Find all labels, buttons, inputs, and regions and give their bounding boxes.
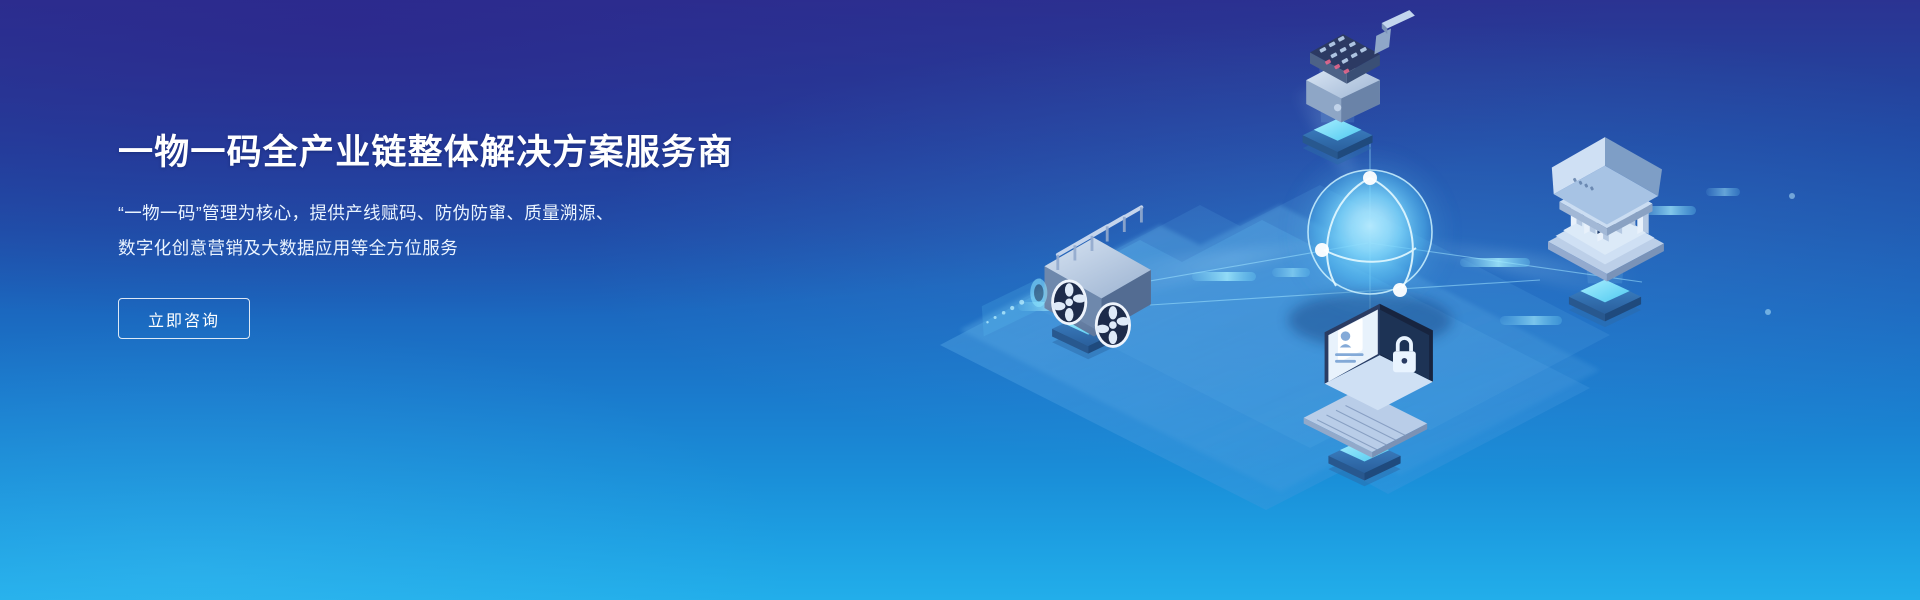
hero-copy: 一物一码全产业链整体解决方案服务商 “一物一码”管理为核心，提供产线赋码、防伪防…: [118, 132, 818, 339]
pos-display: [1325, 59, 1350, 74]
fan-icon-2: [1095, 302, 1131, 348]
data-flow-lines: [1098, 140, 1642, 352]
server-rack-node: [982, 207, 1151, 359]
bank-columns: [1571, 194, 1649, 242]
laptop-security-node: [1304, 304, 1433, 486]
node-pad: [1303, 119, 1373, 165]
pos-terminal-node: [1303, 10, 1415, 165]
network-sphere-node: [1284, 146, 1456, 348]
hero-subcopy: “一物一码”管理为核心，提供产线赋码、防伪防窜、质量溯源、 数字化创意营销及大数…: [118, 196, 678, 266]
subcopy-line-1: “一物一码”管理为核心，提供产线赋码、防伪防窜、质量溯源、: [118, 196, 678, 231]
page-title: 一物一码全产业链整体解决方案服务商: [118, 132, 818, 174]
node-pad: [1328, 439, 1400, 487]
consult-now-button[interactable]: 立即咨询: [118, 298, 250, 339]
keypad-keys: [1319, 36, 1367, 64]
lock-icon: [1393, 338, 1416, 372]
laptop-keys: [1317, 405, 1406, 450]
node-pad: [1569, 280, 1641, 328]
scanner-beam: [982, 278, 1048, 337]
flow-capsules: [1018, 188, 1740, 325]
fan-icon-1: [1051, 280, 1087, 326]
subcopy-line-2: 数字化创意营销及大数据应用等全方位服务: [118, 231, 678, 266]
light-beams: [1096, 86, 1642, 302]
hero-illustration: [900, 0, 1920, 600]
hero-banner: 一物一码全产业链整体解决方案服务商 “一物一码”管理为核心，提供产线赋码、防伪防…: [0, 0, 1920, 600]
profile-doc-icon: [1335, 318, 1364, 363]
corner-glints: [1765, 193, 1795, 315]
bank-building-node: [1548, 137, 1664, 327]
node-pad: [1052, 312, 1124, 360]
sphere-vertices: [1315, 171, 1407, 297]
isometric-platform: [940, 185, 1610, 510]
